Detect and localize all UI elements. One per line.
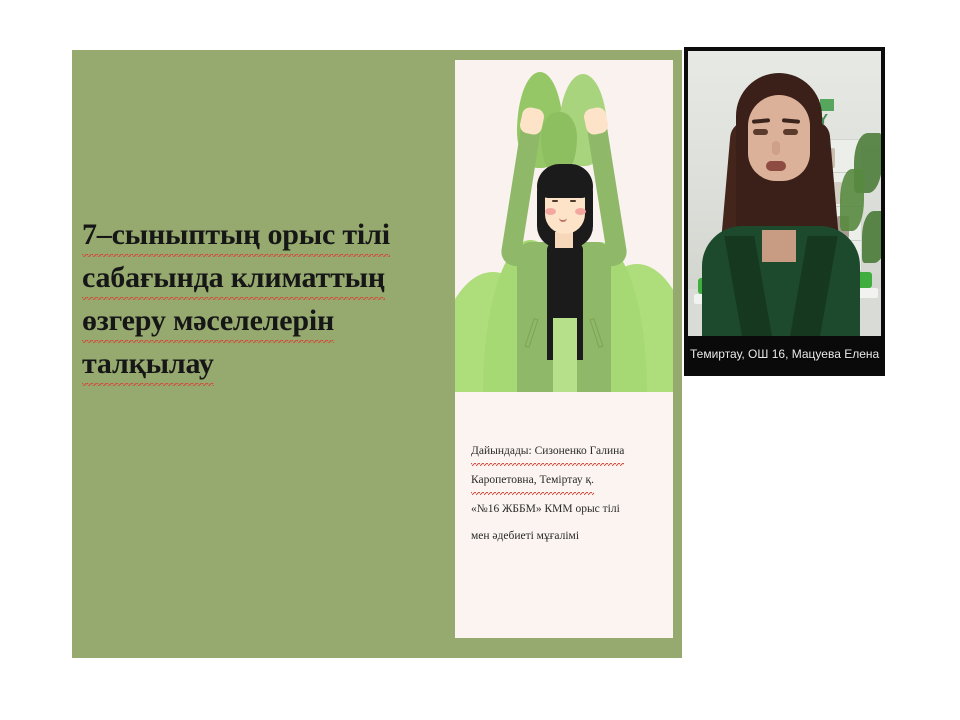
video-caption-text: Темиртау, ОШ 16, Мацуева Елена [688,347,879,361]
cheek-right-shape [575,208,586,215]
person-eye-right [783,129,798,135]
slide-title-line-2-text: сабағында климаттың [82,258,385,301]
video-participant-panel[interactable]: LOGY [684,47,885,376]
pants-shape [553,318,577,392]
plant-right-2 [840,169,864,231]
neck-shape [555,232,573,248]
cheek-left-shape [545,208,556,215]
hair-front-shape [537,164,593,198]
poster-credit-line-2: Каропетовна, Теміртау қ. [471,467,659,496]
person-nose [772,141,780,155]
presentation-slide: 7–сыныптың орыс тілі сабағында климаттың… [72,50,682,658]
slide-title-line-1: 7–сыныптың орыс тілі [82,215,432,258]
person-eye-left [753,129,768,135]
poster-credit-line-1: Дайындады: Сизоненко Галина [471,438,659,467]
wall-badge-shape [820,99,834,111]
girl-holding-green-leaf-illustration [455,60,673,392]
poster-credit-line-2-text: Каропетовна, Теміртау қ. [471,467,594,496]
slide-title-line-1-text: 7–сыныптың орыс тілі [82,215,390,258]
person-neck [762,230,796,262]
slide-title-line-3-text: өзгеру мәселелерін [82,301,334,344]
eye-left-shape [552,200,558,202]
person-mouth [766,161,786,171]
slide-title-line-4-text: талқылау [82,344,214,387]
video-feed: LOGY [688,51,881,372]
poster-credit-text: Дайындады: Сизоненко Галина Каропетовна,… [455,392,673,550]
slide-title-line-4: талқылау [82,344,432,387]
slide-title-line-2: сабағында климаттың [82,258,432,301]
poster-credit-line-3: «№16 ЖББМ» КММ орыс тілі [471,496,659,523]
poster-credit-line-4: мен әдебиеті мұғалімі [471,523,659,550]
plant-right-3 [862,211,881,263]
slide-title-line-3: өзгеру мәселелерін [82,301,432,344]
slide-title-block: 7–сыныптың орыс тілі сабағында климаттың… [82,215,432,387]
video-caption-bar: Темиртау, ОШ 16, Мацуева Елена [688,336,881,372]
poster-card: Дайындады: Сизоненко Галина Каропетовна,… [455,60,673,638]
poster-credit-line-1-text: Дайындады: Сизоненко Галина [471,438,624,467]
screenshot-canvas: 7–сыныптың орыс тілі сабағында климаттың… [0,0,960,720]
eye-right-shape [570,200,576,202]
